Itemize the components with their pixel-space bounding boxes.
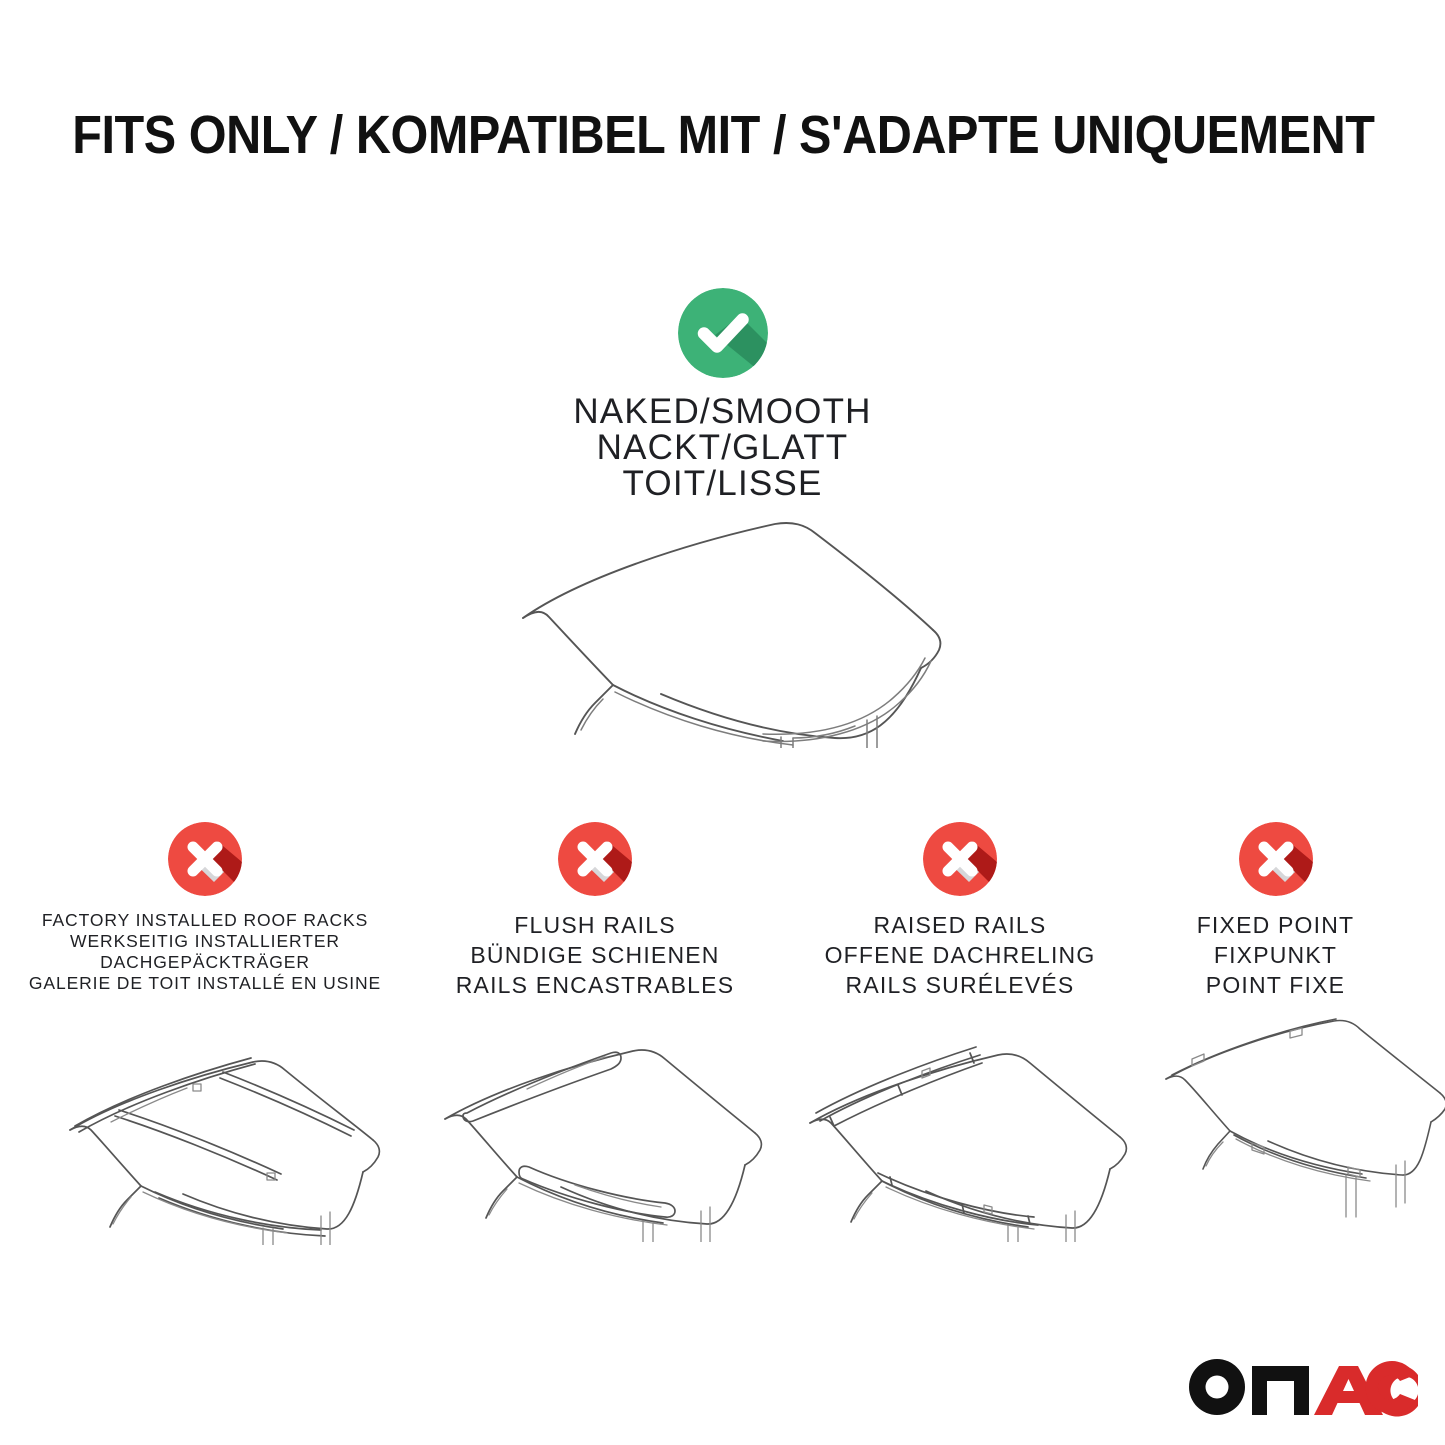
cross-circle-badge <box>168 822 242 896</box>
cross-circle-badge <box>558 822 632 896</box>
incompatible-captions: RAISED RAILS OFFENE DACHRELING RAILS SUR… <box>765 910 1155 1000</box>
incompatible-captions: FACTORY INSTALLED ROOF RACKS WERKSEITIG … <box>5 910 405 994</box>
caption-line: FACTORY INSTALLED ROOF RACKS <box>5 910 405 931</box>
compatible-captions: NAKED/SMOOTH NACKT/GLATT TOIT/LISSE <box>0 394 1445 502</box>
check-circle-badge <box>678 288 768 378</box>
incompatible-captions: FLUSH RAILS BÜNDIGE SCHIENEN RAILS ENCAS… <box>400 910 790 1000</box>
caption-line: BÜNDIGE SCHIENEN <box>400 940 790 970</box>
car-roof-flush-rails-illustration <box>400 1027 790 1242</box>
omac-logo <box>1186 1356 1418 1418</box>
caption-line: DACHGEPÄCKTRÄGER <box>5 952 405 973</box>
cross-circle-icon <box>1239 822 1313 896</box>
caption-line: OFFENE DACHRELING <box>765 940 1155 970</box>
caption-line: FIXED POINT <box>1148 910 1403 940</box>
incompatible-panel-factory-roof-racks: FACTORY INSTALLED ROOF RACKS WERKSEITIG … <box>5 822 405 994</box>
car-roof-naked-smooth-illustration <box>0 498 1445 758</box>
caption-line: WERKSEITIG INSTALLIERTER <box>5 931 405 952</box>
cross-circle-icon <box>558 822 632 896</box>
caption-line: RAISED RAILS <box>765 910 1155 940</box>
cross-circle-badge <box>1239 822 1313 896</box>
caption-line: TOIT/LISSE <box>0 466 1445 502</box>
caption-line: FLUSH RAILS <box>400 910 790 940</box>
compatible-panel: NAKED/SMOOTH NACKT/GLATT TOIT/LISSE <box>0 288 1445 502</box>
cross-circle-badge <box>923 822 997 896</box>
incompatible-panel-fixed-point: FIXED POINT FIXPUNKT POINT FIXE <box>1148 822 1403 1000</box>
caption-line: POINT FIXE <box>1148 970 1403 1000</box>
incompatible-captions: FIXED POINT FIXPUNKT POINT FIXE <box>1148 910 1403 1000</box>
caption-line: RAILS SURÉLEVÉS <box>765 970 1155 1000</box>
caption-line: GALERIE DE TOIT INSTALLÉ EN USINE <box>5 973 405 994</box>
incompatible-panel-raised-rails: RAISED RAILS OFFENE DACHRELING RAILS SUR… <box>765 822 1155 1000</box>
incompatible-panel-flush-rails: FLUSH RAILS BÜNDIGE SCHIENEN RAILS ENCAS… <box>400 822 790 1000</box>
check-circle-icon <box>678 288 768 378</box>
caption-line: RAILS ENCASTRABLES <box>400 970 790 1000</box>
caption-line: NACKT/GLATT <box>0 430 1445 466</box>
cross-circle-icon <box>923 822 997 896</box>
car-roof-raised-rails-illustration <box>765 1027 1155 1242</box>
car-roof-factory-roof-racks-illustration <box>5 1030 405 1245</box>
caption-line: FIXPUNKT <box>1148 940 1403 970</box>
page-title: FITS ONLY / KOMPATIBEL MIT / S'ADAPTE UN… <box>72 103 1373 167</box>
cross-circle-icon <box>168 822 242 896</box>
caption-line: NAKED/SMOOTH <box>0 394 1445 430</box>
car-roof-fixed-point-illustration <box>1148 1017 1403 1242</box>
